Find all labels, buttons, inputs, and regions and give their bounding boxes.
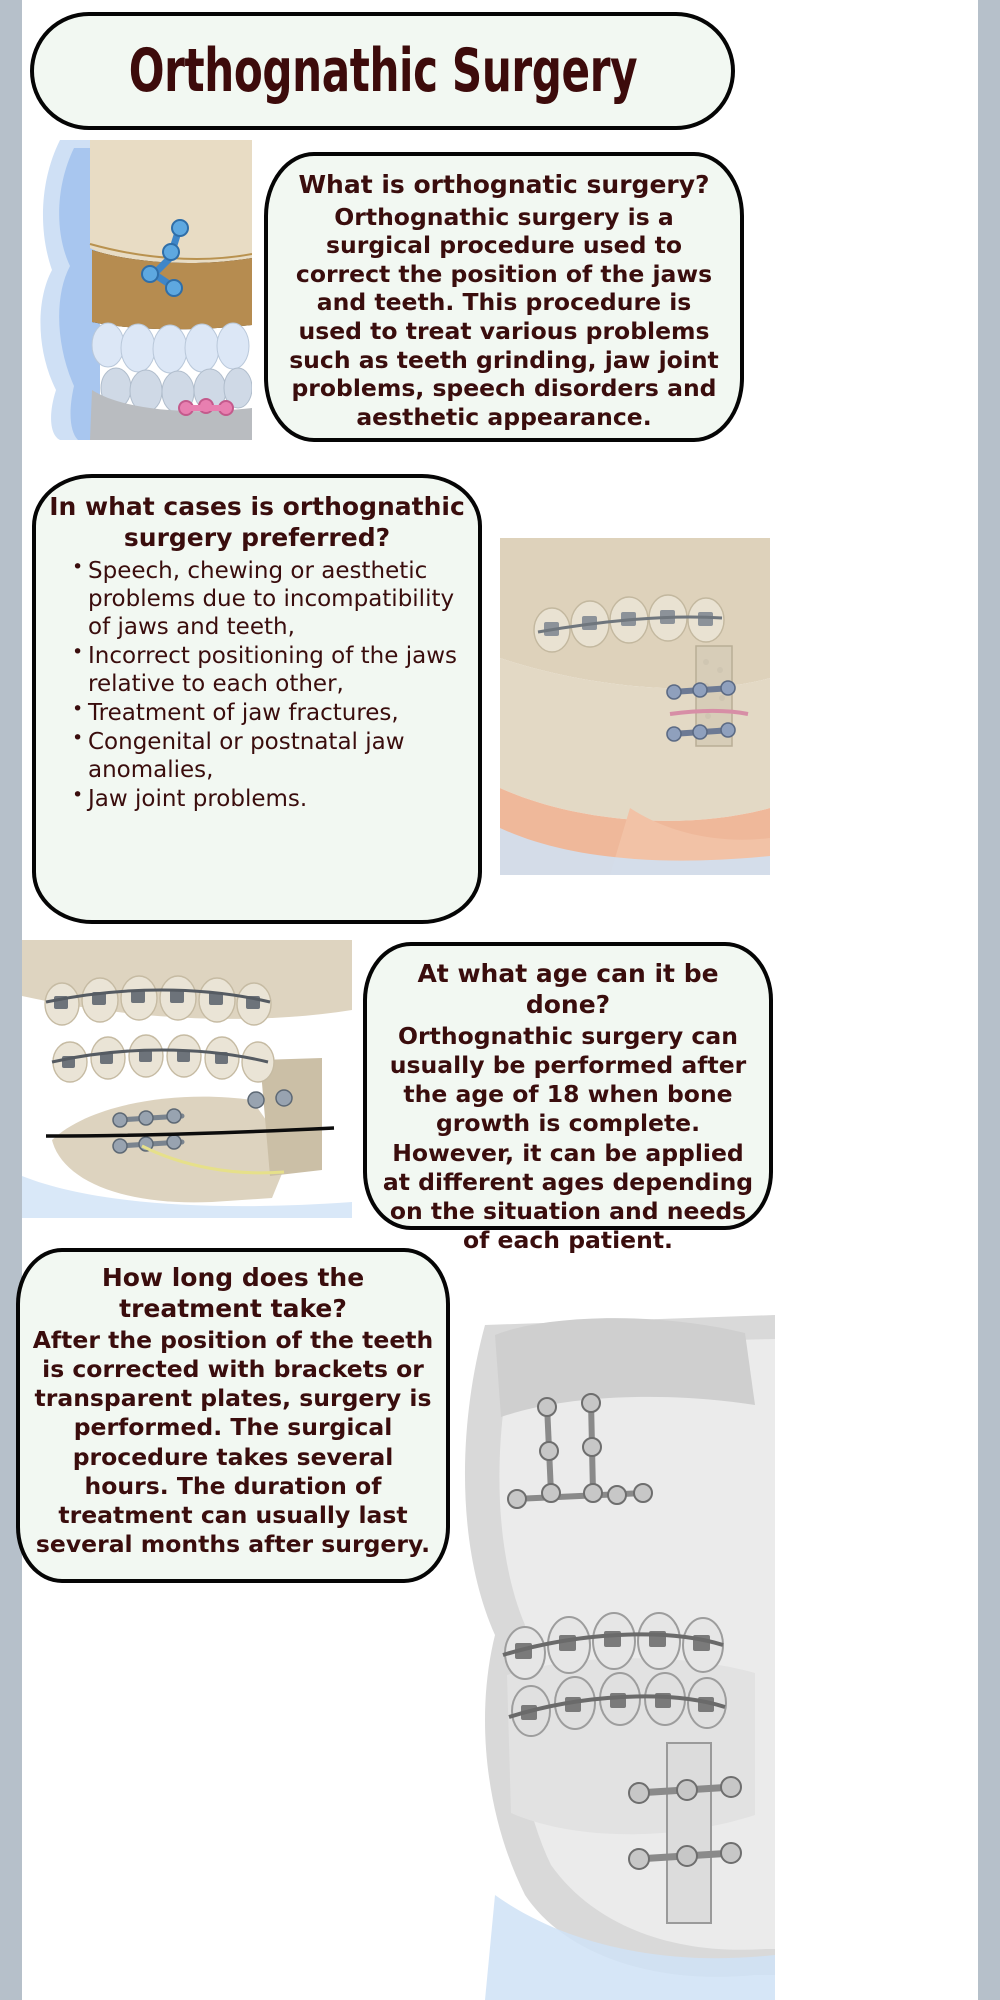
section-what-is-bubble: What is orthognatic surgery? Orthognathi… [264, 152, 744, 442]
skull-xray-braces-plates-svg [455, 1255, 775, 2000]
section-at-what-age-body: Orthognathic surgery can usually be perf… [377, 1022, 759, 1255]
braces-jaw-plate-svg [500, 538, 770, 875]
list-item: Treatment of jaw fractures, [72, 699, 464, 727]
section-in-what-cases-list: Speech, chewing or aesthetic problems du… [46, 557, 468, 813]
section-what-is-question: What is orthognatic surgery? [284, 170, 724, 201]
section-how-long-bubble: How long does the treatment take? After … [16, 1248, 450, 1583]
section-what-is-body: Orthognathic surgery is a surgical proce… [284, 203, 724, 432]
skull-xray-braces-plates-illustration [455, 1255, 775, 2000]
infographic-poster: Orthognathic Surgery [0, 0, 1000, 2000]
section-how-long-body: After the position of the teeth is corre… [28, 1326, 438, 1559]
section-at-what-age-question: At what age can it be done? [377, 958, 759, 1020]
maxilla-bone-plate-svg [30, 140, 252, 440]
poster-title-bubble: Orthognathic Surgery [30, 12, 735, 130]
list-item: Congenital or postnatal jaw anomalies, [72, 728, 464, 784]
page-title: Orthognathic Surgery [128, 36, 636, 106]
braces-jaw-plate-illustration [500, 538, 770, 875]
list-item: Jaw joint problems. [72, 785, 464, 813]
lower-jaw-braces-illustration [22, 940, 352, 1218]
section-at-what-age-bubble: At what age can it be done? Orthognathic… [363, 942, 773, 1230]
left-rail-decoration [0, 0, 22, 2000]
list-item: Speech, chewing or aesthetic problems du… [72, 557, 464, 641]
lower-jaw-braces-svg [22, 940, 352, 1218]
section-in-what-cases-bubble: In what cases is orthognathic surgery pr… [32, 474, 482, 924]
right-rail-decoration [978, 0, 1000, 2000]
maxilla-bone-plate-illustration [30, 140, 252, 440]
section-how-long-question: How long does the treatment take? [28, 1262, 438, 1324]
section-in-what-cases-question: In what cases is orthognathic surgery pr… [46, 492, 468, 553]
list-item: Incorrect positioning of the jaws relati… [72, 642, 464, 698]
